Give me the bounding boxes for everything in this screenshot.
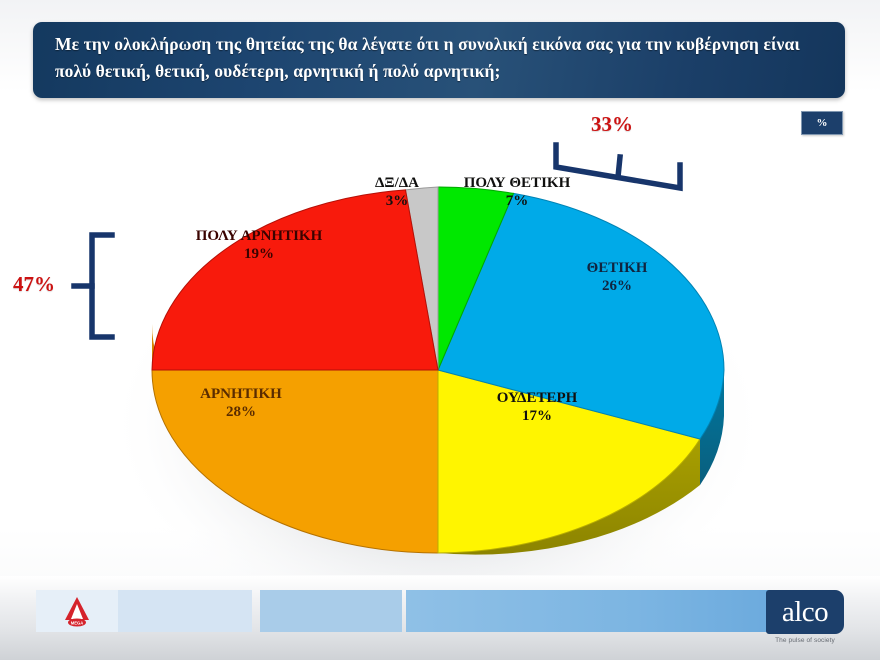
footer: MEGA alco The pulse of society xyxy=(0,576,880,660)
bracket-label-positive: 33% xyxy=(591,112,633,137)
footer-segment-1 xyxy=(118,590,252,632)
alco-tagline: The pulse of society xyxy=(766,637,844,644)
svg-text:MEGA: MEGA xyxy=(71,620,84,625)
pie-top-face xyxy=(152,187,724,553)
footer-segment-2 xyxy=(252,590,260,632)
alco-wordmark: alco xyxy=(782,598,828,627)
slice-poly-arnitiki xyxy=(152,190,438,370)
title-line-1: Με την ολοκλήρωση της θητείας της θα λέγ… xyxy=(55,34,672,54)
bracket-positive xyxy=(556,145,680,188)
page-title: Με την ολοκλήρωση της θητείας της θα λέγ… xyxy=(55,31,823,85)
footer-segment-3 xyxy=(260,590,402,632)
mega-logo-cell: MEGA xyxy=(36,590,118,632)
pie-chart: ΔΞ/ΔΑ 3% ΠΟΛΥ ΘΕΤΙΚΗ 7% ΘΕΤΙΚΗ 26% ΟΥΔΕΤ… xyxy=(0,105,880,575)
question-title-banner: Με την ολοκλήρωση της θητείας της θα λέγ… xyxy=(33,22,845,98)
footer-segment-bar: MEGA xyxy=(36,590,788,632)
mega-channel-logo: MEGA xyxy=(60,595,94,627)
bracket-label-negative: 47% xyxy=(13,272,55,297)
pie-chart-svg xyxy=(0,105,880,575)
alco-logo: alco xyxy=(766,590,844,634)
bracket-negative xyxy=(74,235,112,337)
footer-segment-5 xyxy=(406,590,788,632)
